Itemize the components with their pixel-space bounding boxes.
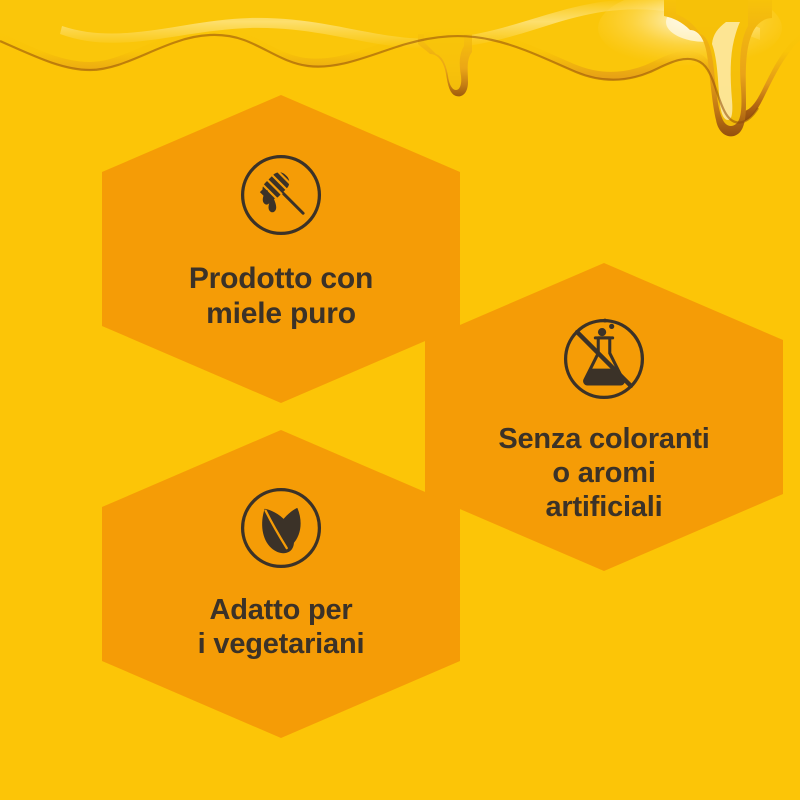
honey-glow (598, 0, 782, 68)
badge-label: Senza coloranti o aromi artificiali (449, 423, 759, 525)
honey-body (0, 0, 800, 112)
badge-vegetarian: Adatto per i vegetariani (102, 430, 460, 738)
honey-mass (0, 0, 800, 123)
honey-edge-line (0, 35, 758, 123)
honey-drip-right-inner (676, 0, 748, 126)
honey-benefits-poster: Prodotto con miele puro Senza coloranti … (0, 0, 800, 800)
honey-drip-right (664, 0, 772, 136)
honey-specular (666, 2, 746, 42)
no-chemicals-flask-icon (556, 311, 652, 407)
badge-label: Adatto per i vegetariani (131, 594, 431, 662)
honey-drip-right-shine (712, 22, 740, 120)
honey-highlight (60, 0, 760, 49)
honey-dipper-icon (233, 147, 329, 243)
badge-pure-honey: Prodotto con miele puro (102, 95, 460, 403)
badge-no-artificial: Senza coloranti o aromi artificiali (425, 263, 783, 571)
badge-label: Prodotto con miele puro (131, 261, 431, 331)
honey-drip-center (418, 34, 472, 96)
two-leaves-icon (233, 480, 329, 576)
honey-drip-center-inner (424, 32, 464, 90)
honey-drip-decoration (0, 0, 800, 150)
